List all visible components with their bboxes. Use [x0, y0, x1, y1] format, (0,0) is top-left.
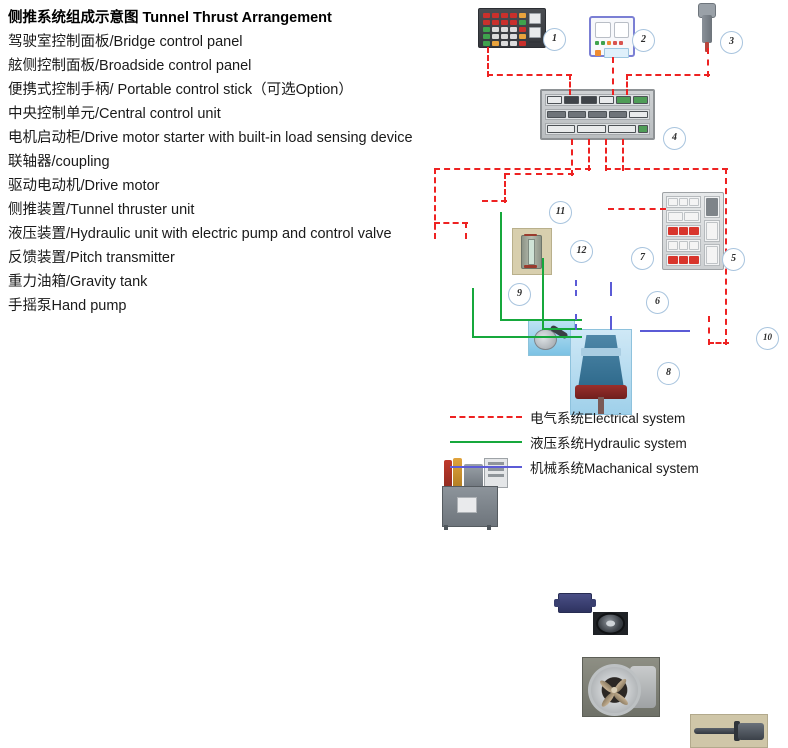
- panel2-display-left: [595, 22, 611, 38]
- wire-mechanical-7-to-6: [610, 282, 612, 296]
- wire-hydraulic-12-down: [542, 258, 544, 328]
- drive-motor-starter-cabinet[interactable]: [662, 192, 724, 270]
- badge-4: 4: [663, 127, 686, 150]
- component-name-list: 侧推系统组成示意图 Tunnel Thrust Arrangement 驾驶室控…: [8, 6, 460, 318]
- legend-label-electrical: 电气系统Electrical system: [530, 407, 685, 427]
- keypad-row: [483, 27, 526, 32]
- legend-line-hydraulic: [450, 441, 522, 443]
- wire-electrical-to-11: [504, 173, 574, 175]
- bridge-control-panel[interactable]: [478, 8, 546, 48]
- list-item: 反馈装置/Pitch transmitter: [8, 246, 460, 270]
- tunnel-thruster[interactable]: [582, 657, 660, 717]
- panel2-screens: [595, 22, 629, 38]
- wire-electrical-trunk-left: [434, 168, 436, 239]
- wire-mechanical-valve-top: [575, 280, 577, 296]
- wire-hydraulic-9-in: [472, 336, 582, 338]
- thruster-unit-band: [581, 348, 622, 356]
- coupling-hub: [606, 620, 616, 627]
- drive-motor[interactable]: [690, 714, 768, 748]
- wire-hydraulic-9-down: [472, 288, 474, 336]
- panel2-button[interactable]: [595, 50, 601, 56]
- cabinet-row: [704, 196, 720, 218]
- gravity-tank[interactable]: [512, 228, 552, 275]
- keypad-row: [483, 34, 526, 39]
- cabinet-main-column: [666, 196, 701, 266]
- badge-11: 11: [549, 201, 572, 224]
- cabinet-row: [666, 225, 701, 237]
- legend-row-mechanical: 机械系统Machanical system: [450, 454, 788, 479]
- badge-12: 12: [570, 240, 593, 263]
- wire-electrical-9-in: [465, 222, 467, 239]
- cabinet-row: [666, 254, 701, 266]
- wire-electrical-1-right: [487, 74, 572, 76]
- wire-hydraulic-11-down: [500, 212, 502, 319]
- panel2-display-right: [614, 22, 630, 38]
- cabinet-row: [666, 239, 701, 251]
- thruster-unit-cone: [578, 335, 624, 387]
- wire-electrical-10-in: [708, 316, 710, 345]
- list-item: 联轴器/coupling: [8, 150, 460, 174]
- list-item: 重力油箱/Gravity tank: [8, 270, 460, 294]
- page-title: 侧推系统组成示意图 Tunnel Thrust Arrangement: [8, 6, 460, 30]
- wire-electrical-1-down: [487, 47, 489, 77]
- legend-line-mechanical: [450, 466, 522, 468]
- ccu-module-row-middle: [545, 109, 650, 121]
- tank-cap-top: [524, 234, 537, 237]
- wire-electrical-ccu-out-b: [588, 139, 590, 171]
- badge-1: 1: [543, 28, 566, 51]
- motor-shaft: [694, 728, 740, 734]
- list-item: 舷侧控制面板/Broadside control panel: [8, 54, 460, 78]
- central-control-unit[interactable]: [540, 89, 655, 140]
- wire-electrical-ccu-out-a: [571, 139, 573, 176]
- legend-label-hydraulic: 液压系统Hydraulic system: [530, 432, 687, 452]
- cabinet-row: [704, 220, 720, 242]
- panel2-slider[interactable]: [604, 48, 629, 58]
- wire-electrical-trunk-top: [434, 168, 591, 170]
- wire-electrical-3-to-ccu: [626, 74, 628, 95]
- hydraulic-leg-right: [487, 525, 491, 530]
- wire-electrical-1-to-ccu: [569, 74, 571, 95]
- cabinet-row: [666, 210, 701, 222]
- keypad-group: [483, 13, 526, 43]
- list-item: 手摇泵Hand pump: [8, 294, 460, 318]
- legend-row-electrical: 电气系统Electrical system: [450, 404, 788, 429]
- propeller-blade: [600, 691, 616, 708]
- motor-body: [738, 723, 764, 740]
- list-item: 便携式控制手柄/ Portable control stick（可选Option…: [8, 78, 460, 102]
- hydraulic-leg-left: [444, 525, 448, 530]
- wire-electrical-bus-5: [605, 168, 728, 170]
- pitch-transmitter[interactable]: [558, 593, 592, 613]
- legend-row-hydraulic: 液压系统Hydraulic system: [450, 429, 788, 454]
- badge-6: 6: [646, 291, 669, 314]
- wire-mechanical-valve-bottom: [575, 314, 577, 330]
- badge-2: 2: [632, 29, 655, 52]
- wire-hydraulic-11-in: [500, 319, 582, 321]
- badge-5: 5: [722, 248, 745, 271]
- joystick-knob[interactable]: [529, 41, 541, 43]
- wire-electrical-9-stub: [434, 222, 468, 224]
- wire-electrical-11-in: [482, 200, 507, 202]
- badge-10: 10: [756, 327, 779, 350]
- list-item: 中央控制单元/Central control unit: [8, 102, 460, 126]
- keypad-row: [483, 41, 526, 46]
- wire-electrical-3-down: [707, 48, 709, 77]
- display-and-knob-group: [529, 13, 541, 43]
- badge-3: 3: [720, 31, 743, 54]
- legend-label-mechanical: 机械系统Machanical system: [530, 457, 699, 477]
- system-legend: 电气系统Electrical system 液压系统Hydraulic syst…: [450, 404, 788, 479]
- list-item: 驱动电动机/Drive motor: [8, 174, 460, 198]
- badge-8: 8: [657, 362, 680, 385]
- panel-display-top: [529, 13, 541, 24]
- cabinet-row: [666, 196, 701, 208]
- portable-control-stick[interactable]: [693, 3, 721, 53]
- wire-electrical-3-left: [626, 74, 710, 76]
- keypad-row: [483, 20, 526, 25]
- list-item: 液压装置/Hydraulic unit with electric pump a…: [8, 222, 460, 246]
- broadside-control-panel[interactable]: [589, 16, 635, 57]
- wire-electrical-5-to-10: [708, 342, 729, 344]
- stick-body: [702, 15, 712, 43]
- tunnel-thruster-unit[interactable]: [570, 329, 632, 415]
- list-item: 驾驶室控制面板/Bridge control panel: [8, 30, 460, 54]
- list-item: 侧推装置/Tunnel thruster unit: [8, 198, 460, 222]
- tank-sight-glass: [528, 239, 535, 265]
- cabinet-side-column: [704, 196, 720, 266]
- wire-electrical-5-to-7: [608, 208, 666, 210]
- keypad-row: [483, 13, 526, 18]
- wire-electrical-ccu-out-c: [605, 139, 607, 171]
- ccu-module-row-bottom: [545, 123, 650, 135]
- list-item: 电机启动柜/Drive motor starter with built-in …: [8, 126, 460, 150]
- diagram-page: 侧推系统组成示意图 Tunnel Thrust Arrangement 驾驶室控…: [0, 0, 788, 490]
- wire-electrical-11-down: [504, 173, 506, 203]
- hydraulic-nameplate: [457, 497, 478, 513]
- panel2-indicators: [595, 41, 629, 45]
- propeller-hub: [611, 687, 617, 693]
- ccu-module-row-top: [545, 94, 650, 106]
- wire-mechanical-8-to-10: [640, 330, 690, 332]
- coupling[interactable]: [593, 612, 628, 635]
- thruster-ring: [588, 664, 641, 716]
- tank-cap-bottom: [524, 265, 537, 268]
- panel-display-bottom: [529, 27, 541, 38]
- badge-9: 9: [508, 283, 531, 306]
- badge-7: 7: [631, 247, 654, 270]
- legend-line-electrical: [450, 416, 522, 418]
- wire-electrical-2-down: [612, 57, 614, 95]
- wire-mechanical-6-to-8: [610, 316, 612, 330]
- cabinet-row: [704, 244, 720, 266]
- wire-electrical-ccu-out-d: [622, 139, 624, 171]
